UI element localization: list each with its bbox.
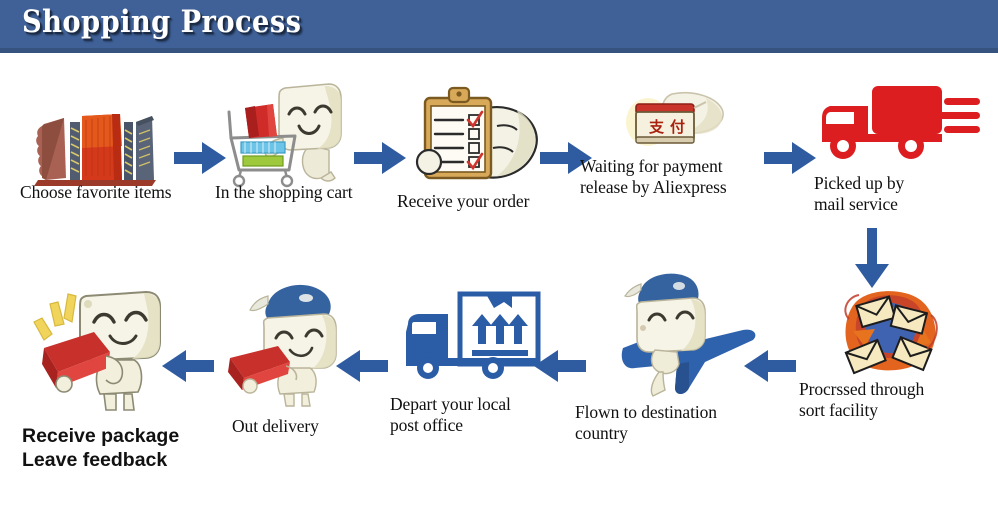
character-happy-package-icon bbox=[28, 282, 184, 418]
step-label-depart-post-office: Depart your local post office bbox=[390, 394, 580, 436]
payment-stamp-icon: 支 付 bbox=[610, 88, 740, 158]
step-label-sort-facility: Procrssed through sort facility bbox=[799, 379, 998, 421]
character-on-airplane-icon bbox=[593, 272, 763, 398]
mail-envelopes-cluster-icon bbox=[831, 285, 951, 377]
books-on-shelf-icon bbox=[24, 108, 164, 188]
step-label-out-delivery: Out delivery bbox=[232, 416, 392, 437]
blue-truck-package-icon bbox=[398, 288, 548, 380]
arrow-down-connector bbox=[848, 228, 896, 290]
clipboard-checklist-icon bbox=[405, 80, 550, 190]
step-label-waiting-payment: Waiting for payment release by Aliexpres… bbox=[580, 156, 780, 198]
header-banner: Shopping Process bbox=[0, 0, 998, 53]
svg-text:付: 付 bbox=[670, 118, 685, 136]
step-label-flown-destination: Flown to destination country bbox=[575, 402, 785, 444]
character-carrying-package-icon bbox=[228, 280, 368, 412]
arrow-right-2 bbox=[352, 138, 410, 178]
page-title: Shopping Process bbox=[22, 4, 301, 40]
svg-text:支: 支 bbox=[648, 118, 665, 136]
step-label-receive-package: Receive package Leave feedback bbox=[22, 424, 242, 472]
step-label-choose-items: Choose favorite items bbox=[20, 182, 200, 203]
arrow-right-1 bbox=[172, 138, 230, 178]
step-label-picked-up: Picked up by mail service bbox=[814, 173, 994, 215]
step-label-receive-order: Receive your order bbox=[397, 191, 577, 212]
step-label-shopping-cart: In the shopping cart bbox=[215, 182, 405, 203]
shopping-process-infographic: Shopping Process bbox=[0, 0, 998, 512]
red-delivery-truck-icon bbox=[810, 82, 982, 167]
